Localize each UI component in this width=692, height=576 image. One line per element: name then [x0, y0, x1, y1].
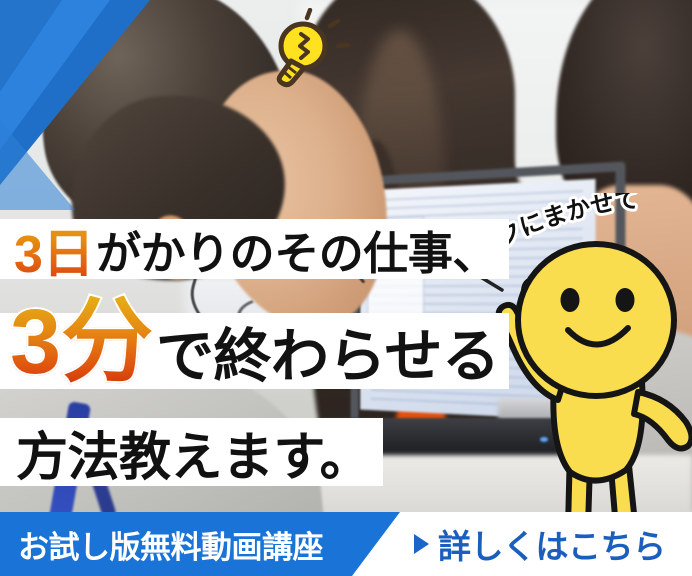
mascot-eye-right	[616, 288, 635, 312]
cta-link[interactable]: 詳しくはこちら	[400, 512, 692, 576]
mascot-eye-left	[561, 288, 580, 312]
cta-badge-label: お試し版無料動画講座	[0, 522, 323, 567]
headline-line-1-highlight: 3日	[14, 212, 96, 287]
headline-line-1-rest: がかりのその仕事、	[96, 217, 497, 282]
yellow-mascot-character	[492, 232, 692, 532]
cta-bar: お試し版無料動画講座 詳しくはこちら	[0, 512, 692, 576]
play-triangle-icon	[414, 534, 429, 554]
promo-banner: ボクにまかせて 3日がかりのその仕事、 3分で終わらせる	[0, 0, 692, 576]
headline-line-3: 方法教えます。	[0, 418, 383, 486]
lightbulb-icon	[258, 8, 363, 90]
blue-corner-shape	[0, 0, 230, 210]
headline-line-1: 3日がかりのその仕事、	[0, 219, 509, 279]
headline-line-2-rest: で終わらせる	[156, 309, 499, 393]
headline-line-2-highlight: 3分	[10, 296, 153, 388]
cta-link-label: 詳しくはこちら	[438, 520, 666, 568]
headline-line-3-text: 方法教えます。	[16, 415, 371, 490]
cta-badge[interactable]: お試し版無料動画講座	[0, 512, 400, 576]
